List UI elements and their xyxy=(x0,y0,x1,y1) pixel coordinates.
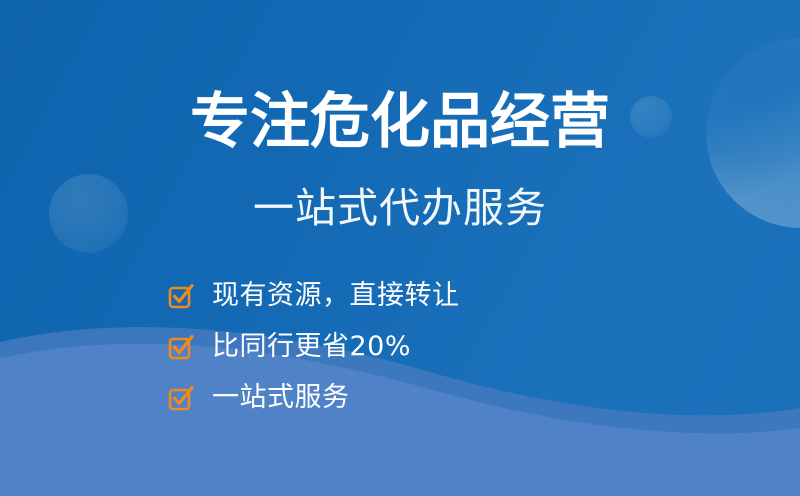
checkbox-checked-icon xyxy=(168,334,194,360)
list-item-label: 比同行更省20% xyxy=(212,332,411,362)
banner-content: 专注危化品经营 一站式代办服务 现有资源，直接转让 xyxy=(0,0,800,496)
list-item-label: 一站式服务 xyxy=(212,383,350,413)
list-item: 现有资源，直接转让 xyxy=(168,272,588,320)
list-item: 比同行更省20% xyxy=(168,323,588,371)
list-item: 一站式服务 xyxy=(168,374,588,422)
checkbox-checked-icon xyxy=(168,283,194,309)
checkbox-checked-icon xyxy=(168,385,194,411)
list-item-label: 现有资源，直接转让 xyxy=(212,281,460,311)
subheadline-text: 一站式代办服务 xyxy=(0,184,800,232)
feature-list: 现有资源，直接转让 比同行更省20% 一站式 xyxy=(168,272,588,422)
headline-text: 专注危化品经营 xyxy=(0,88,800,156)
promo-banner: 专注危化品经营 一站式代办服务 现有资源，直接转让 xyxy=(0,0,800,496)
